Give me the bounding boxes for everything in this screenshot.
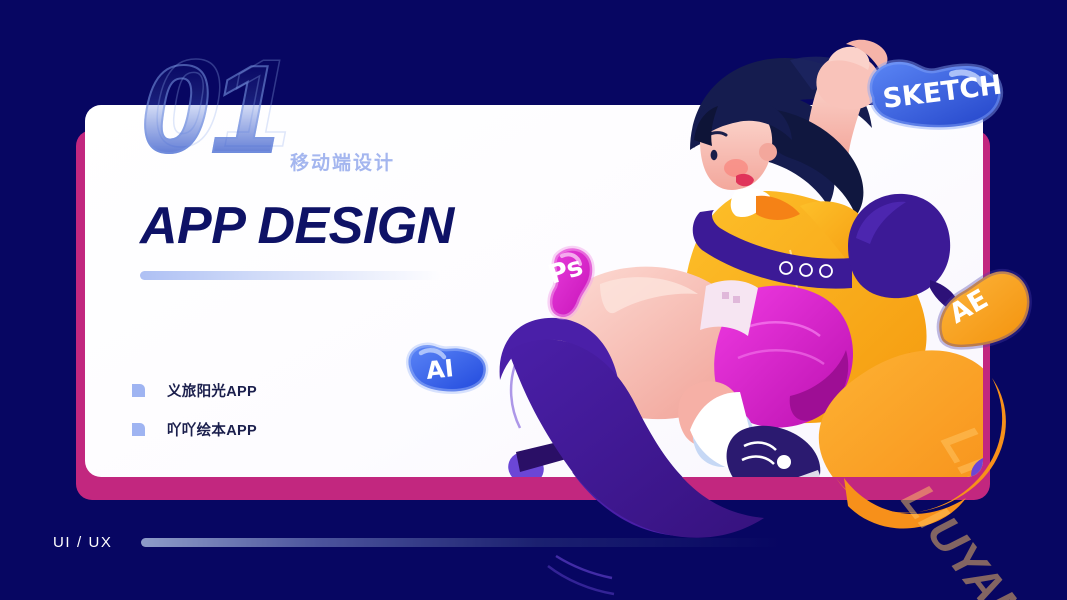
project-list: 义旅阳光APP 吖吖绘本APP	[132, 380, 257, 458]
badge-ae[interactable]: AE	[934, 262, 1044, 358]
badge-ai-label: AI	[425, 354, 455, 385]
presentation-slide: 01 01 移动端设计 APP DESIGN 义旅阳光APP 吖吖绘本APP	[0, 0, 1067, 600]
slide-title: APP DESIGN	[140, 196, 454, 256]
bullet-square-icon	[132, 384, 145, 397]
bullet-square-icon	[132, 423, 145, 436]
badge-sketch[interactable]: SKETCH	[856, 44, 1006, 130]
footer-label: UI / UX	[53, 534, 113, 551]
board-swirl-overflow	[556, 556, 612, 578]
footer: UI / UX	[53, 534, 781, 551]
footer-gradient-bar	[141, 538, 781, 547]
board-swirl-overflow-2	[548, 566, 614, 594]
list-item[interactable]: 吖吖绘本APP	[132, 419, 257, 440]
list-item-label: 吖吖绘本APP	[167, 419, 257, 440]
list-item[interactable]: 义旅阳光APP	[132, 380, 257, 401]
title-divider	[140, 271, 440, 280]
badge-ps[interactable]: Ps	[536, 236, 616, 322]
badge-ai[interactable]: AI	[399, 335, 499, 401]
list-item-label: 义旅阳光APP	[167, 380, 257, 401]
slide-subtitle: 移动端设计	[290, 148, 395, 175]
